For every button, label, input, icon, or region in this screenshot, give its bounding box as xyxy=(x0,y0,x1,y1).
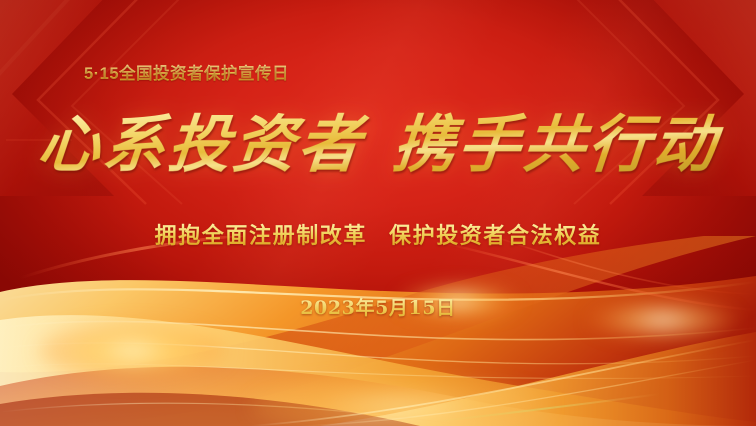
subtitle-line: 拥抱全面注册制改革保护投资者合法权益 xyxy=(0,218,756,250)
poster-text-stack: 5·15全国投资者保护宣传日 心系投资者携手共行动 拥抱全面注册制改革保护投资者… xyxy=(0,0,756,426)
poster-canvas: 5·15全国投资者保护宣传日 心系投资者携手共行动 拥抱全面注册制改革保护投资者… xyxy=(0,0,756,426)
subtitle-phrase-1: 拥抱全面注册制改革 xyxy=(155,223,367,248)
event-date: 2023年5月15日 xyxy=(0,293,756,320)
headline-phrase-2: 携手共行动 xyxy=(390,108,721,181)
subtitle-phrase-2: 保护投资者合法权益 xyxy=(389,223,601,248)
eyebrow-label: 5·15全国投资者保护宣传日 xyxy=(84,60,289,84)
main-headline: 心系投资者携手共行动 xyxy=(0,112,756,177)
headline-phrase-1: 心系投资者 xyxy=(35,108,366,181)
